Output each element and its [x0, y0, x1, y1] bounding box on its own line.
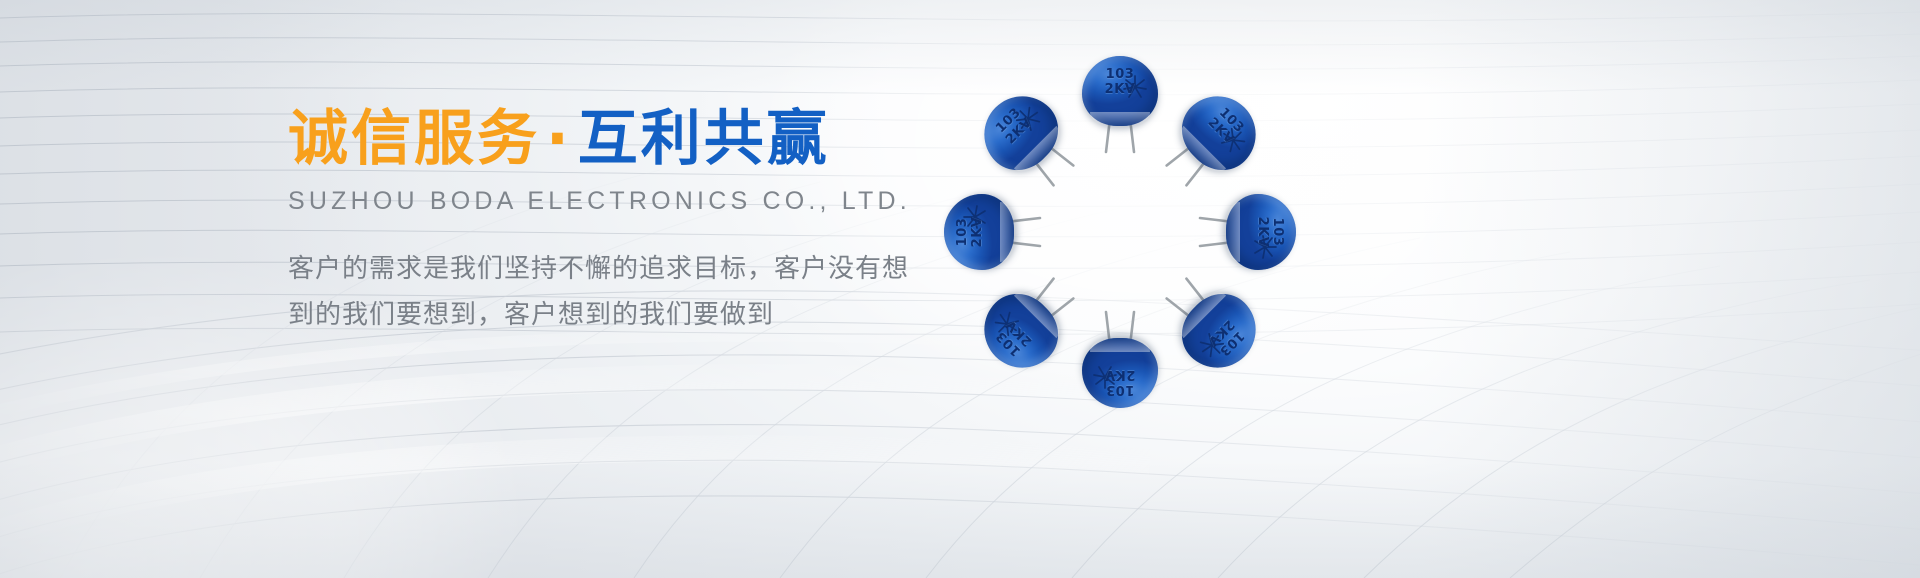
description-line-2: 到的我们要想到，客户想到的我们要做到 — [288, 292, 928, 338]
banner-text-block: 诚信服务·互利共赢 SUZHOU BODA ELECTRONICS CO., L… — [288, 108, 948, 339]
hero-banner: 诚信服务·互利共赢 SUZHOU BODA ELECTRONICS CO., L… — [0, 0, 1920, 578]
headline-separator-dot: · — [540, 104, 578, 174]
product-image-capacitor-ring: 103 2KV — [940, 52, 1300, 412]
banner-description: 客户的需求是我们坚持不懈的追求目标，客户没有想 到的我们要想到，客户想到的我们要… — [288, 246, 928, 339]
headline-part-a: 诚信服务 — [288, 104, 540, 174]
description-line-1: 客户的需求是我们坚持不懈的追求目标，客户没有想 — [288, 246, 928, 292]
headline-part-b: 互利共赢 — [578, 104, 830, 174]
page-title: 诚信服务·互利共赢 — [288, 108, 948, 171]
company-name-subtitle: SUZHOU BODA ELECTRONICS CO., LTD. — [288, 187, 948, 216]
